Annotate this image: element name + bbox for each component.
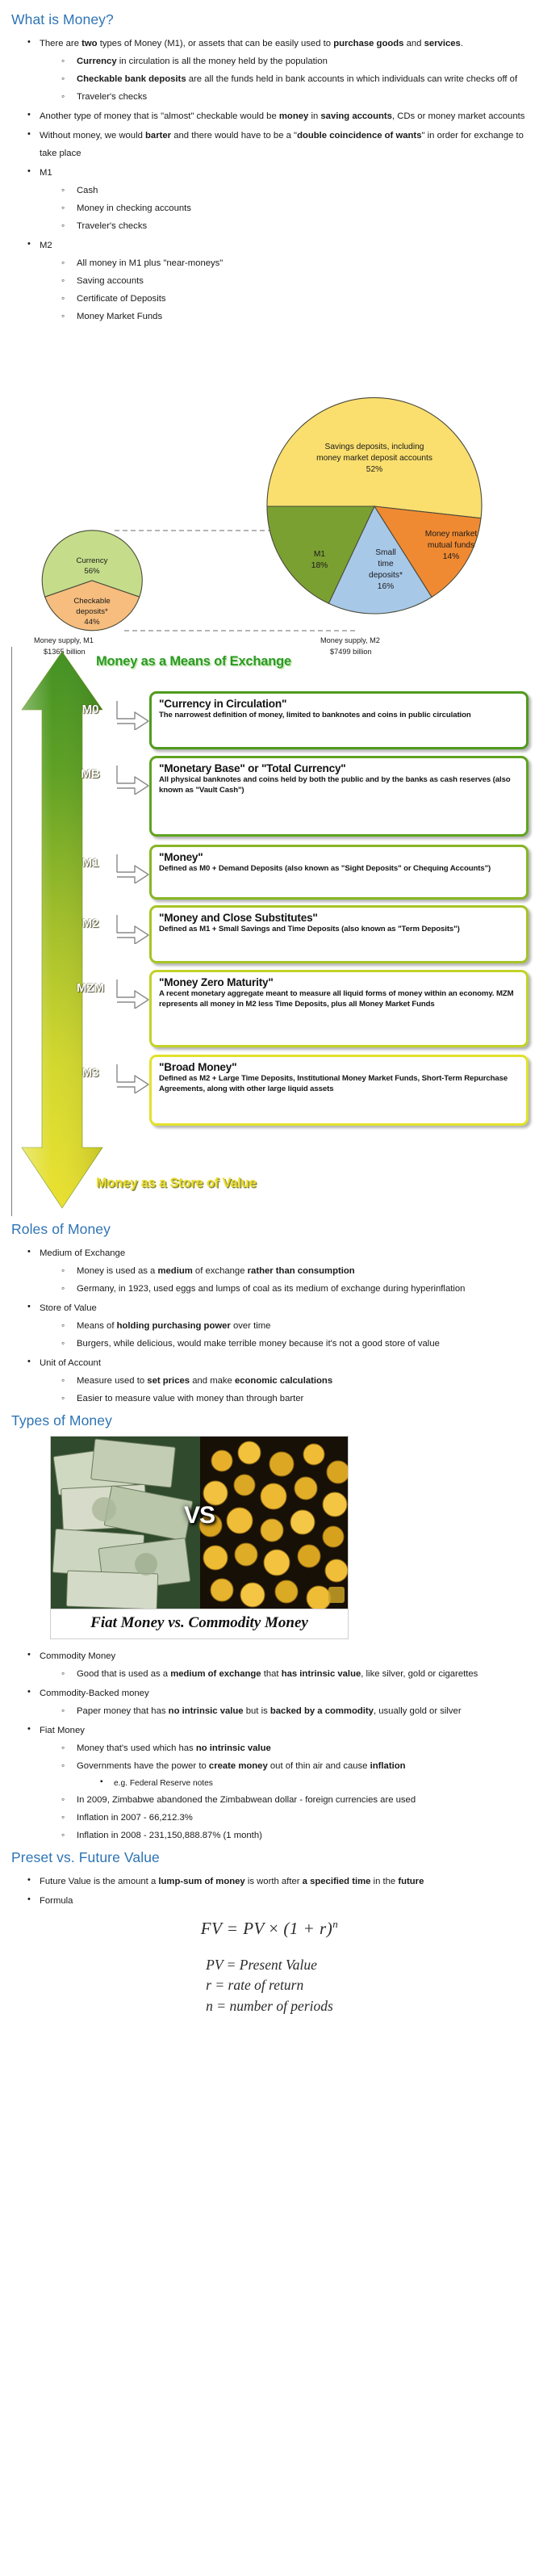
aggregate-row: M3"Broad Money"Defined as M2 + Large Tim… bbox=[65, 1055, 529, 1126]
label-checkable-line2: deposits* bbox=[76, 607, 108, 616]
future-value-formula: FV = PV × (1 + r)n PV = Present Valuer =… bbox=[11, 1918, 528, 2016]
list-item-text: Without money, we would barter and there… bbox=[40, 131, 524, 158]
pie-charts-svg: Savings deposits, including money market… bbox=[11, 330, 528, 645]
aggregate-box: "Money"Defined as M0 + Demand Deposits (… bbox=[149, 845, 529, 900]
list-item: Without money, we would barter and there… bbox=[26, 127, 528, 162]
aggregate-tag: M1 bbox=[65, 856, 115, 870]
formula-definition-line: PV = Present Value bbox=[206, 1955, 333, 1975]
list-item-text: Traveler's checks bbox=[77, 221, 147, 231]
aggregate-row: M0"Currency in Circulation"The narrowest… bbox=[65, 691, 529, 749]
aggregate-box: "Money and Close Substitutes"Defined as … bbox=[149, 905, 529, 963]
list-item: Commodity-Backed moneyPaper money that h… bbox=[26, 1684, 528, 1720]
diagram-title-top: Money as a Means of Exchange bbox=[96, 654, 291, 669]
list-item-text: Governments have the power to create mon… bbox=[77, 1761, 406, 1771]
list-item-text: Burgers, while delicious, would make ter… bbox=[77, 1339, 440, 1349]
list-item-text: e.g. Federal Reserve notes bbox=[114, 1779, 213, 1788]
list-item-text: Traveler's checks bbox=[77, 92, 147, 102]
list-item: Money Market Funds bbox=[61, 308, 528, 325]
list-item-text: Money that's used which has no intrinsic… bbox=[77, 1743, 271, 1753]
aggregate-heading: "Currency in Circulation" bbox=[159, 698, 520, 710]
list-item-text: Commodity Money bbox=[40, 1651, 115, 1661]
list-item: Saving accounts bbox=[61, 272, 528, 290]
list-item: Burgers, while delicious, would make ter… bbox=[61, 1335, 528, 1353]
bold-run: Currency bbox=[77, 57, 117, 66]
aggregate-box: "Money Zero Maturity"A recent monetary a… bbox=[149, 970, 529, 1047]
bold-run: Checkable bank deposits bbox=[77, 74, 186, 84]
bold-run: two bbox=[81, 39, 97, 48]
sub-list: Means of holding purchasing power over t… bbox=[40, 1317, 528, 1353]
list-item: Store of ValueMeans of holding purchasin… bbox=[26, 1299, 528, 1353]
banknotes-group bbox=[52, 1439, 193, 1609]
bold-run: no intrinsic value bbox=[196, 1743, 271, 1753]
document-page: What is Money? There are two types of Mo… bbox=[0, 0, 539, 2033]
list-item-text: Cash bbox=[77, 186, 98, 195]
list-item: e.g. Federal Reserve notes bbox=[98, 1776, 528, 1791]
formula-left: FV = PV bbox=[201, 1919, 265, 1938]
list-item-text: Easier to measure value with money than … bbox=[77, 1394, 303, 1403]
page-title-present-vs-future: Preset vs. Future Value bbox=[11, 1849, 528, 1866]
sub-list: CashMoney in checking accountsTraveler's… bbox=[40, 182, 528, 235]
aggregate-body: A recent monetary aggregate meant to mea… bbox=[159, 989, 520, 1010]
aggregate-tag: M3 bbox=[65, 1066, 115, 1080]
list-item-text: Fiat Money bbox=[40, 1726, 85, 1735]
list-item-text: Germany, in 1923, used eggs and lumps of… bbox=[77, 1284, 465, 1294]
list-item: There are two types of Money (M1), or as… bbox=[26, 35, 528, 106]
bold-run: lump-sum of money bbox=[158, 1877, 244, 1886]
caption-m1-title: Money supply, M1 bbox=[34, 636, 94, 646]
list-item: Governments have the power to create mon… bbox=[61, 1757, 528, 1790]
list-item: Medium of ExchangeMoney is used as a med… bbox=[26, 1244, 528, 1298]
list-item: Traveler's checks bbox=[61, 88, 528, 106]
list-item-text: Inflation in 2007 - 66,212.3% bbox=[77, 1813, 193, 1823]
formula-exponent: n bbox=[332, 1918, 338, 1930]
aggregate-body: Defined as M0 + Demand Deposits (also kn… bbox=[159, 864, 520, 875]
caption-m2-title: Money supply, M2 bbox=[320, 636, 380, 646]
list-item: Traveler's checks bbox=[61, 217, 528, 235]
bold-run: backed by a commodity bbox=[270, 1706, 374, 1716]
aggregate-row: M1"Money"Defined as M0 + Demand Deposits… bbox=[65, 845, 529, 900]
aggregate-heading: "Money and Close Substitutes" bbox=[159, 912, 520, 924]
sub-list: e.g. Federal Reserve notes bbox=[77, 1776, 528, 1791]
label-m1big: M1 bbox=[314, 550, 325, 559]
list-item: Inflation in 2008 - 231,150,888.87% (1 m… bbox=[61, 1827, 528, 1844]
bold-run: create money bbox=[209, 1761, 268, 1771]
arrow-connector-icon bbox=[115, 1061, 151, 1093]
aggregate-row: M2"Money and Close Substitutes"Defined a… bbox=[65, 905, 529, 963]
aggregate-tag: MZM bbox=[65, 981, 115, 995]
monetary-aggregates-diagram: Money as a Means of Exchange Money as a … bbox=[11, 647, 528, 1216]
list-item: Commodity MoneyGood that is used as a me… bbox=[26, 1647, 528, 1683]
list-item: Currency in circulation is all the money… bbox=[61, 52, 528, 70]
aggregate-tag: M0 bbox=[65, 703, 115, 716]
label-savings-line2: money market deposit accounts bbox=[316, 454, 432, 463]
aggregate-row: MZM"Money Zero Maturity"A recent monetar… bbox=[65, 970, 529, 1047]
sub-list: Paper money that has no intrinsic value … bbox=[40, 1702, 528, 1720]
pie-m2 bbox=[267, 398, 482, 615]
list-item-text: Inflation in 2008 - 231,150,888.87% (1 m… bbox=[77, 1831, 262, 1840]
list-item-text: Medium of Exchange bbox=[40, 1248, 125, 1258]
list-item-text: Money Market Funds bbox=[77, 312, 162, 321]
list-item-text: Commodity-Backed money bbox=[40, 1689, 149, 1698]
bold-run: a specified time bbox=[303, 1877, 371, 1886]
list-item: Future Value is the amount a lump-sum of… bbox=[26, 1873, 528, 1890]
aggregate-box: "Broad Money"Defined as M2 + Large Time … bbox=[149, 1055, 529, 1126]
aggregate-heading: "Monetary Base" or "Total Currency" bbox=[159, 762, 520, 774]
aggregate-box: "Currency in Circulation"The narrowest d… bbox=[149, 691, 529, 749]
list-item-text: M2 bbox=[40, 241, 52, 250]
list-item-text: Good that is used as a medium of exchang… bbox=[77, 1669, 478, 1679]
aggregate-heading: "Money" bbox=[159, 851, 520, 863]
label-smalltime-value: 16% bbox=[378, 582, 394, 591]
label-savings-line1: Savings deposits, including bbox=[325, 443, 424, 451]
bold-run: purchase goods bbox=[333, 39, 403, 48]
aggregate-tag: MB bbox=[65, 767, 115, 781]
label-mmmf-line1: Money market bbox=[425, 530, 478, 539]
formula-definitions: PV = Present Valuer = rate of returnn = … bbox=[206, 1955, 333, 2016]
bold-run: inflation bbox=[370, 1761, 406, 1771]
list-item: All money in M1 plus "near-moneys" bbox=[61, 254, 528, 272]
list-item-text: In 2009, Zimbabwe abandoned the Zimbabwe… bbox=[77, 1795, 416, 1805]
page-title-roles-of-money: Roles of Money bbox=[11, 1221, 528, 1238]
list-item: Measure used to set prices and make econ… bbox=[61, 1372, 528, 1390]
aggregate-body: All physical banknotes and coins held by… bbox=[159, 775, 520, 796]
list-item: M1CashMoney in checking accountsTraveler… bbox=[26, 164, 528, 235]
aggregate-body: The narrowest definition of money, limit… bbox=[159, 711, 520, 721]
sub-list: Good that is used as a medium of exchang… bbox=[40, 1665, 528, 1683]
list-item: Means of holding purchasing power over t… bbox=[61, 1317, 528, 1335]
list-item-text: Another type of money that is "almost" c… bbox=[40, 111, 524, 121]
label-mmmf-value: 14% bbox=[443, 552, 459, 561]
bold-run: medium of exchange bbox=[170, 1669, 261, 1679]
label-smalltime-line1: Small bbox=[375, 548, 395, 557]
list-item-text: Measure used to set prices and make econ… bbox=[77, 1376, 332, 1386]
list-item-text: Unit of Account bbox=[40, 1358, 101, 1368]
list-item-text: Paper money that has no intrinsic value … bbox=[77, 1706, 462, 1716]
bold-run: double coincidence of wants bbox=[297, 131, 421, 141]
aggregate-body: Defined as M1 + Small Savings and Time D… bbox=[159, 925, 520, 935]
bold-run: has intrinsic value bbox=[282, 1669, 361, 1679]
bold-run: rather than consumption bbox=[248, 1266, 355, 1276]
list-item: Money is used as a medium of exchange ra… bbox=[61, 1262, 528, 1280]
list-item-text: Checkable bank deposits are all the fund… bbox=[77, 74, 517, 84]
list-item: Paper money that has no intrinsic value … bbox=[61, 1702, 528, 1720]
list-item: Formula bbox=[26, 1892, 528, 1910]
bold-run: services bbox=[424, 39, 461, 48]
list-item: Certificate of Deposits bbox=[61, 290, 528, 308]
bold-run: money bbox=[279, 111, 308, 121]
sub-list: Currency in circulation is all the money… bbox=[40, 52, 528, 106]
list-what-is-money: There are two types of Money (M1), or as… bbox=[11, 35, 528, 325]
label-smalltime-line3: deposits* bbox=[369, 571, 403, 580]
diagram-title-bottom: Money as a Store of Value bbox=[96, 1176, 257, 1191]
list-item-text: Saving accounts bbox=[77, 276, 144, 286]
list-item: Inflation in 2007 - 66,212.3% bbox=[61, 1809, 528, 1827]
label-checkable-line1: Checkable bbox=[73, 597, 110, 606]
bold-run: set prices bbox=[147, 1376, 190, 1386]
money-supply-pie-figure: Savings deposits, including money market… bbox=[11, 330, 528, 645]
list-item: Germany, in 1923, used eggs and lumps of… bbox=[61, 1280, 528, 1298]
page-title-types-of-money: Types of Money bbox=[11, 1412, 528, 1429]
bold-run: economic calculations bbox=[235, 1376, 332, 1386]
list-item: Easier to measure value with money than … bbox=[61, 1390, 528, 1408]
formula-definition-line: r = rate of return bbox=[206, 1975, 333, 1995]
list-item: Unit of AccountMeasure used to set price… bbox=[26, 1354, 528, 1408]
arrow-connector-icon bbox=[115, 976, 151, 1009]
aggregate-tag: M2 bbox=[65, 917, 115, 930]
formula-times: × bbox=[269, 1919, 278, 1938]
list-item-text: Currency in circulation is all the money… bbox=[77, 57, 328, 66]
list-item: In 2009, Zimbabwe abandoned the Zimbabwe… bbox=[61, 1791, 528, 1809]
list-roles-of-money: Medium of ExchangeMoney is used as a med… bbox=[11, 1244, 528, 1408]
list-item-text: Store of Value bbox=[40, 1303, 97, 1313]
list-item: Another type of money that is "almost" c… bbox=[26, 107, 528, 125]
formula-expression: FV = PV × (1 + r)n bbox=[11, 1918, 528, 1939]
sub-list: Money that's used which has no intrinsic… bbox=[40, 1739, 528, 1844]
sub-list: All money in M1 plus "near-moneys"Saving… bbox=[40, 254, 528, 325]
formula-definition-line: n = number of periods bbox=[206, 1996, 333, 2016]
list-item-text: Money in checking accounts bbox=[77, 203, 191, 213]
list-item-text: Certificate of Deposits bbox=[77, 294, 166, 304]
sub-list: Measure used to set prices and make econ… bbox=[40, 1372, 528, 1408]
aggregate-heading: "Broad Money" bbox=[159, 1061, 520, 1073]
formula-right: (1 + r) bbox=[283, 1919, 332, 1938]
list-present-vs-future: Future Value is the amount a lump-sum of… bbox=[11, 1873, 528, 1910]
bold-run: no intrinsic value bbox=[169, 1706, 244, 1716]
label-mmmf-line2: mutual funds bbox=[428, 541, 474, 550]
label-savings-value: 52% bbox=[366, 465, 382, 474]
list-item: Fiat MoneyMoney that's used which has no… bbox=[26, 1722, 528, 1844]
bold-run: future bbox=[398, 1877, 424, 1886]
label-currency: Currency bbox=[77, 556, 108, 565]
list-item: Checkable bank deposits are all the fund… bbox=[61, 70, 528, 88]
sub-list: Money is used as a medium of exchange ra… bbox=[40, 1262, 528, 1298]
list-item: M2All money in M1 plus "near-moneys"Savi… bbox=[26, 237, 528, 325]
list-item-text: Formula bbox=[40, 1896, 73, 1906]
aggregate-box: "Monetary Base" or "Total Currency"All p… bbox=[149, 756, 529, 837]
list-item: Money that's used which has no intrinsic… bbox=[61, 1739, 528, 1757]
bold-run: holding purchasing power bbox=[117, 1321, 231, 1331]
label-smalltime-line2: time bbox=[378, 560, 394, 568]
fiat-vs-commodity-photo: VS bbox=[50, 1436, 349, 1609]
photo-watermark bbox=[328, 1587, 345, 1603]
list-item-text: Money is used as a medium of exchange ra… bbox=[77, 1266, 355, 1276]
label-m1big-value: 18% bbox=[311, 561, 328, 570]
arrow-connector-icon bbox=[115, 762, 151, 795]
aggregate-row: MB"Monetary Base" or "Total Currency"All… bbox=[65, 756, 529, 837]
label-checkable-value: 44% bbox=[84, 618, 100, 627]
list-item: Cash bbox=[61, 182, 528, 199]
label-currency-value: 56% bbox=[84, 567, 100, 576]
photo-caption: Fiat Money vs. Commodity Money bbox=[50, 1609, 349, 1639]
bold-run: saving accounts bbox=[320, 111, 392, 121]
page-title-what-is-money: What is Money? bbox=[11, 11, 528, 28]
arrow-connector-icon bbox=[115, 912, 151, 944]
bold-run: barter bbox=[145, 131, 171, 141]
bold-run: medium bbox=[157, 1266, 192, 1276]
list-types-of-money: Commodity MoneyGood that is used as a me… bbox=[11, 1647, 528, 1844]
list-item-text: All money in M1 plus "near-moneys" bbox=[77, 258, 223, 268]
list-item-text: There are two types of Money (M1), or as… bbox=[40, 39, 463, 48]
vs-label: VS bbox=[184, 1502, 215, 1529]
aggregate-heading: "Money Zero Maturity" bbox=[159, 976, 520, 988]
list-item: Good that is used as a medium of exchang… bbox=[61, 1665, 528, 1683]
list-item: Money in checking accounts bbox=[61, 199, 528, 217]
list-item-text: Future Value is the amount a lump-sum of… bbox=[40, 1877, 424, 1886]
list-item-text: M1 bbox=[40, 168, 52, 178]
arrow-connector-icon bbox=[115, 851, 151, 883]
arrow-connector-icon bbox=[115, 698, 151, 730]
list-item-text: Means of holding purchasing power over t… bbox=[77, 1321, 270, 1331]
aggregate-body: Defined as M2 + Large Time Deposits, Ins… bbox=[159, 1074, 520, 1095]
